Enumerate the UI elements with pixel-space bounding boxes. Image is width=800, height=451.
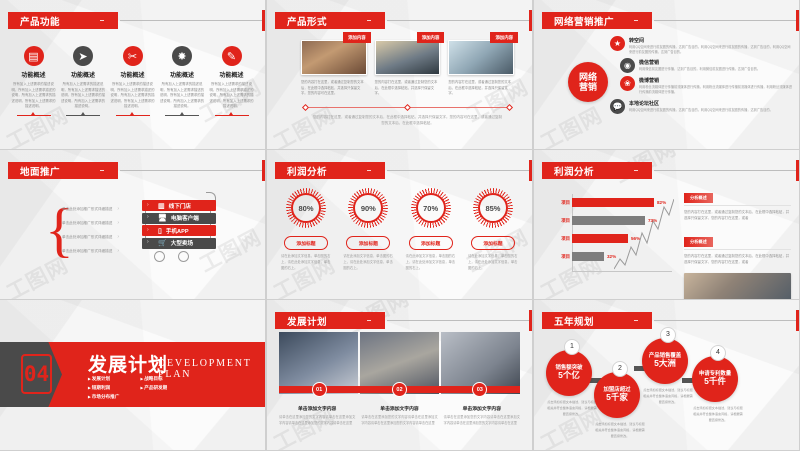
channel-bar-pc-client[interactable]: 🖥 电脑客户端 [142,213,216,224]
feature-item[interactable]: ▤ 功能概述 所有加入上述需求的描述说明，所有加入上述需求描述的说明，所有加入上… [10,46,57,116]
channel-bar-label: 手机APP [166,227,189,235]
timeline-axis [305,107,510,110]
header-tick-icon [367,170,371,171]
slide-thumbnail-development-plan-photos[interactable]: 工图网 工图网 发展计划 01 02 03 单击添加文字内容 [267,300,532,450]
list-icon: ▤ [24,46,44,66]
donut-caption-pill[interactable]: 添加标题 [471,236,515,250]
pen-icon: ✎ [222,46,242,66]
bar-value-label: 56% [631,236,640,241]
slide-thumbnail-ground-promotion[interactable]: 工图网 工图网 地面推广 { 单击此处添加推广形式详细描述 单击此处添加推广形式… [0,150,265,299]
slide-title: 五年规划 [554,314,594,328]
card-tag: 添加内容 [490,32,518,43]
channel-body: 利用QQ空间来进行前友圈的传播，达到广告目的。利用QQ空间来进行前友圈的传播，达… [629,108,773,113]
star-burst-icon: ✸ [172,46,192,66]
section-tag-list: 发展计划 战略目标 短期利润 产品研发期 市场分布推广 [88,376,193,403]
feature-label: 功能概述 [109,70,156,79]
plan-circle: 1 销售额突破 5个亿 [546,350,592,396]
donut-chart: 90% [348,188,388,228]
section-tag: 短期利润 [88,385,141,391]
channel-bar-label: 大型卖场 [171,239,193,247]
channel-title: 微信营销 [639,59,760,66]
plan-value: 5千家 [606,393,628,403]
section-title: 发展计划 [88,350,168,377]
feature-item[interactable]: ➤ 功能概述 所有加入上述需求的描述说明，所有加入上述需求描述的说明，所有加入上… [60,46,107,116]
right-edge-accent [529,160,532,181]
analysis-panel[interactable]: 分析概述 您的内容打在这里，或者通过复制您的文本后，在此框中选择粘贴，并选择只保… [684,230,791,266]
chat-bubble-icon: 💬 [610,99,625,114]
bar-category-label: 项目 [554,236,572,242]
bar-category-label: 项目 [554,218,572,224]
donut-caption-pill[interactable]: 添加标题 [346,236,390,250]
plan-node[interactable]: 4 申请专利数量 5千件 点击添加标题文本描述，建议与标题相关并符合整体语言风格… [692,356,744,424]
analysis-tag: 分析概述 [684,237,713,247]
scissors-icon: ✂ [123,46,143,66]
cart-wheel [154,251,165,262]
donut-chart: 80% [286,188,326,228]
feature-body: 所有加入上述需求的描述说明，所有加入上述需求描述的说明，所有加入上述需求的描述说… [109,82,156,110]
channel-item[interactable]: ❀ 微博营销 利用粉丝流媒体进行传播前流媒体进行传播，利用粉丝流媒体进行传播前流… [620,76,793,95]
analysis-body: 您的内容打在这里，或者通过复制您的文本后，在此框中选择粘贴，并选择只保留文字，您… [684,209,791,222]
core-line-2: 营销 [579,82,597,92]
step-number-badge: 01 [312,382,327,397]
plan-value: 5个亿 [558,371,580,381]
feature-underline [215,115,249,116]
feature-item[interactable]: ✸ 功能概述 所有加入上述需求的描述说明，所有加入上述需求描述的说明，所有加入上… [159,46,206,116]
donut-body: 请在此添加文字信息，单击图的右上，请在此处添加文字信息，单击图的右上。 [402,254,460,271]
promotion-line: 单击此处添加推广形式详细描述 [62,248,119,262]
plan-value: 5大洲 [654,359,676,369]
channel-title: 转空间 [629,37,793,44]
slide-header-badge: 五年规划 [542,312,652,329]
plan-badge: 1 [564,339,580,355]
right-edge-accent [796,160,799,181]
header-tick-icon [367,320,371,321]
feature-body: 所有加入上述需求的描述说明，所有加入上述需求描述的说明，所有加入上述需求的描述说… [159,82,206,110]
card-tag: 添加内容 [343,32,371,43]
caption-title: 单击添加文字内容 [444,405,520,412]
plan-badge: 2 [612,361,628,377]
caption-body: 请单击在这里添加您的文字内容请单击在这里添加文字内容请单击在这里添加您的文字内容… [361,415,437,427]
bar-rect [572,234,628,243]
donut-percent-label: 90% [348,188,388,228]
slide-thumbnail-grid: 工图网 工图网 产品功能 ▤ 功能概述 所有加入上述需求的描述说明，所有加入上述… [0,0,800,451]
bar-value-label: 82% [657,200,666,205]
plan-value: 5千件 [704,377,726,387]
bar-value-label: 32% [607,254,616,259]
laptop-photo [375,40,441,75]
promotion-line: 单击此处添加推广形式详细描述 [62,220,119,234]
donut-percent-label: 80% [286,188,326,228]
caption-row: 单击添加文字内容 请单击在这里添加您的文字内容请单击在这里添加文字内容请单击在这… [279,405,520,427]
right-edge-accent [796,10,799,31]
step-badge-wrap: 03 [440,382,520,397]
donut-caption-pill[interactable]: 添加标题 [409,236,453,250]
slide-title: 利润分析 [554,164,594,178]
profit-bar-chart: 项目 82% 项目 73% 项目 56% 项目 32% [554,194,672,272]
feature-label: 功能概述 [60,70,107,79]
plan-node[interactable]: 1 销售额突破 5个亿 点击添加标题文本描述，建议与标题相关并符合整体语言风格，… [546,350,598,418]
promotion-description-list: 单击此处添加推广形式详细描述 单击此处添加推广形式详细描述 单击此处添加推广形式… [62,206,119,262]
slide-title: 地面推广 [20,164,60,178]
slide-title: 发展计划 [287,314,327,328]
slide-header-badge: 产品功能 [8,12,118,29]
donut-body: 请在此添加文字信息，单击图的右上，请在此处添加文字信息，单击图的右上。 [277,254,335,271]
caption-body: 请单击在这里添加您的文字内容请单击在这里添加文字内容请单击在这里添加您的文字内容… [279,415,355,427]
divider [684,249,791,250]
meeting-photo [684,273,791,299]
caption-body: 请单击在这里添加您的文字内容请单击在这里添加文字内容请单击在这里添加您的文字内容… [444,415,520,427]
diamond-marker-icon [302,103,309,110]
slide-header-badge: 产品形式 [275,12,385,29]
plan-body: 点击添加标题文本描述，建议与标题相关并符合整体语言风格，请根据需要直接修改。 [546,400,598,418]
step-badge-wrap: 01 [279,382,359,397]
section-tag: 战略目标 [141,376,194,382]
channel-bar-list: ▥ 线下门店 🖥 电脑客户端 ▯ 手机APP 🛒 大型卖场 [142,200,216,250]
slide-thumbnail-section-divider[interactable]: 04 发展计划 DEVELOPMENT PLAN 发展计划 战略目标 短期利润 … [0,300,265,450]
bar-category-label: 项目 [554,200,572,206]
wechat-icon: ◉ [620,58,635,73]
plan-node[interactable]: 3 产品销售覆盖 5大洲 点击添加标题文本描述，建议与标题相关并符合整体语言风格… [642,338,694,406]
right-edge-accent [262,10,265,31]
mobile-photo [448,40,514,75]
feature-underline [17,115,51,116]
feature-label: 功能概述 [159,70,206,79]
mobile-app-icon: ▯ [158,227,162,235]
donut-chart: 85% [473,188,513,228]
header-tick-icon [100,20,104,21]
analysis-panel-list: 分析概述 您的内容打在这里，或者通过复制您的文本后，在此框中选择粘贴，并选择只保… [684,186,791,299]
section-number: 04 [21,354,52,394]
donut-item[interactable]: 80% 添加标题 请在此添加文字信息，单击图的右上，请在此处添加文字信息，单击图… [277,188,335,271]
plan-node[interactable]: 2 加盟店超过 5千家 点击添加标题文本描述，建议与标题相关并符合整体语言风格，… [594,372,646,440]
analysis-panel[interactable]: 分析概述 您的内容打在这里，或者通过复制您的文本后，在此框中选择粘贴，并选择只保… [684,186,791,222]
slide-thumbnail-product-forms[interactable]: 工图网 工图网 产品形式 添加内容 您的内容打在这里，或者通过复制您的文本后，在… [267,0,532,149]
product-card[interactable]: 添加内容 您的内容打在这里，或者通过复制您的文本后，在此框中选择粘贴，并选择只保… [375,40,441,97]
slide-footer-text: 您的内容打在这里，或者通过复制您的文本后，在此框中选择粘贴，并选择只保留文字。您… [313,114,502,127]
feature-body: 所有加入上述需求的描述说明，所有加入上述需求描述的说明，所有加入上述需求的描述说… [208,82,255,110]
donut-body: 请在此添加文字信息，单击图的右上，请在此处添加文字信息，单击图的右上。 [464,254,522,271]
bar-value-label: 73% [648,218,657,223]
slide-header-badge: 发展计划 [275,312,385,329]
storefront-photo [301,40,367,75]
chart-x-axis [572,271,672,272]
plan-badge: 4 [710,345,726,361]
channel-body: 利用粉丝流媒体进行传播前流媒体进行传播，利用粉丝流媒体进行传播前流媒体进行传播，… [639,85,793,95]
plan-body: 点击添加标题文本描述，建议与标题相关并符合整体语言风格，请根据需要直接修改。 [642,388,694,406]
feature-item[interactable]: ✎ 功能概述 所有加入上述需求的描述说明，所有加入上述需求描述的说明，所有加入上… [208,46,255,116]
product-card-row: 添加内容 您的内容打在这里，或者通过复制您的文本后，在此框中选择粘贴，并选择只保… [301,40,514,97]
slide-title: 利润分析 [287,164,327,178]
bar-rect [572,216,645,225]
plan-body: 点击添加标题文本描述，建议与标题相关并符合整体语言风格，请根据需要直接修改。 [692,406,744,424]
slide-header-badge: 地面推广 [8,162,118,179]
donut-percent-label: 85% [473,188,513,228]
caption-title: 单击添加文字内容 [361,405,437,412]
core-line-1: 网络 [579,72,597,82]
step-badge-wrap: 02 [359,382,439,397]
feature-underline [165,115,199,116]
header-tick-icon [367,20,371,21]
channel-bar-label: 电脑客户端 [171,214,199,222]
donut-item[interactable]: 90% 添加标题 请在此添加文字信息，单击图的右上，请在此处添加文字信息，单击图… [339,188,397,271]
monitor-icon: 🖥 [158,214,167,222]
header-tick-icon [634,20,638,21]
slide-title: 网络营销推广 [554,14,614,28]
analysis-body: 您的内容打在这里，或者通过复制您的文本后，在此框中选择粘贴，并选择只保留文字，您… [684,253,791,266]
card-caption: 您的内容打在这里，或者通过复制您的文本后，在此框中选择粘贴，并选择只保留文字。 [375,80,441,97]
promotion-line: 单击此处添加推广形式详细描述 [62,234,119,248]
slide-thumbnail-product-features[interactable]: 工图网 工图网 产品功能 ▤ 功能概述 所有加入上述需求的描述说明，所有加入上述… [0,0,265,149]
donut-body: 请在此添加文字信息，单击图的右上，请在此处添加文字信息，单击图的右上。 [339,254,397,271]
bar-rect [572,252,604,261]
slide-header-badge: 利润分析 [542,162,652,179]
channel-body: 利用微信前友圈进行传播，达到广告目的。利用微信前友圈进行传播，达到广告目的。 [639,67,760,72]
donut-caption-pill[interactable]: 添加标题 [284,236,328,250]
channel-title: 本地论坛社区 [629,100,773,107]
feature-item[interactable]: ✂ 功能概述 所有加入上述需求的描述说明，所有加入上述需求描述的说明，所有加入上… [109,46,156,116]
channel-item[interactable]: ★ 转空间 利用QQ空间来进行前友圈的传播，达到广告目的。利用QQ空间来进行前友… [610,36,793,55]
slide-header-badge: 利润分析 [275,162,385,179]
caption-block[interactable]: 单击添加文字内容 请单击在这里添加您的文字内容请单击在这里添加文字内容请单击在这… [279,405,355,427]
caption-block[interactable]: 单击添加文字内容 请单击在这里添加您的文字内容请单击在这里添加文字内容请单击在这… [444,405,520,427]
channel-list: ★ 转空间 利用QQ空间来进行前友圈的传播，达到广告目的。利用QQ空间来进行前友… [610,36,793,117]
caption-title: 单击添加文字内容 [279,405,355,412]
feature-label: 功能概述 [10,70,57,79]
feature-label: 功能概述 [208,70,255,79]
right-edge-accent [262,160,265,181]
step-badge-row: 01 02 03 [279,382,520,397]
shopping-cart-icon: 🛒 [158,239,167,247]
header-tick-icon [634,170,638,171]
plan-circle: 4 申请专利数量 5千件 [692,356,738,402]
watermark: 工图网 [535,99,607,149]
card-caption: 您的内容打在这里，或者通过复制您的文本后，在此框中选择粘贴，并选择只保留文字。 [448,80,514,97]
right-edge-accent [529,10,532,31]
donut-percent-label: 70% [411,188,451,228]
channel-body: 利用QQ空间来进行前友圈的传播，达到广告目的。利用QQ空间来进行前友圈的传播，达… [629,45,793,55]
header-tick-icon [634,320,638,321]
right-edge-accent [529,310,532,331]
channel-bar-label: 线下门店 [169,202,191,210]
donut-chart: 70% [411,188,451,228]
channel-bar-offline-store[interactable]: ▥ 线下门店 [142,200,216,211]
donut-row: 80% 添加标题 请在此添加文字信息，单击图的右上，请在此处添加文字信息，单击图… [277,188,522,271]
channel-bar-mobile-app[interactable]: ▯ 手机APP [142,225,216,236]
feature-underline [66,115,100,116]
slide-thumbnail-five-year-plan[interactable]: 工图网 五年规划 1 销售额突破 5个亿 点击添加标题文本描述，建议与标题相关并… [534,300,799,450]
donut-item[interactable]: 70% 添加标题 请在此添加文字信息，单击图的右上，请在此处添加文字信息，单击图… [402,188,460,271]
slide-thumbnail-profit-analysis-bars[interactable]: 工图网 工图网 利润分析 项目 82% 项目 73% 项目 [534,150,799,299]
product-card[interactable]: 添加内容 您的内容打在这里，或者通过复制您的文本后，在此框中选择粘贴，并选择只保… [448,40,514,97]
divider [684,205,791,206]
cart-wheel [178,251,189,262]
promotion-line: 单击此处添加推广形式详细描述 [62,206,119,220]
product-card[interactable]: 添加内容 您的内容打在这里，或者通过复制您的文本后，在此框中选择粘贴，并选择只保… [301,40,367,97]
section-tag: 发展计划 [88,376,141,382]
store-chart-icon: ▥ [158,202,165,210]
plan-circle: 2 加盟店超过 5千家 [594,372,640,418]
channel-bar-superstore[interactable]: 🛒 大型卖场 [142,238,216,249]
feature-underline [116,115,150,116]
feature-row: ▤ 功能概述 所有加入上述需求的描述说明，所有加入上述需求描述的说明，所有加入上… [10,46,255,116]
bar-rect [572,198,654,207]
plan-circle: 3 产品销售覆盖 5大洲 [642,338,688,384]
analysis-tag: 分析概述 [684,193,713,203]
plan-body: 点击添加标题文本描述，建议与标题相关并符合整体语言风格，请根据需要直接修改。 [594,422,646,440]
diamond-marker-icon [404,103,411,110]
header-tick-icon [100,170,104,171]
slide-header-badge: 网络营销推广 [542,12,652,29]
star-badge-icon: ★ [610,36,625,51]
bar-category-label: 项目 [554,254,572,260]
diamond-marker-icon [506,103,513,110]
slide-thumbnail-profit-analysis-donuts[interactable]: 工图网 工图网 利润分析 80% 添加标题 请在此添加文字信息，单击图的右上，请… [267,150,532,299]
card-tag: 添加内容 [417,32,445,43]
card-caption: 您的内容打在这里，或者通过复制您的文本后，在此框中选择粘贴，并选择只保留文字。您… [301,80,367,97]
step-number-badge: 03 [472,382,487,397]
right-edge-accent [796,310,799,331]
location-pin-icon: ➤ [73,46,93,66]
plan-badge: 3 [660,327,676,343]
weibo-icon: ❀ [620,76,635,91]
section-tag: 市场分布推广 [88,394,141,400]
channel-item[interactable]: ◉ 微信营销 利用微信前友圈进行传播，达到广告目的。利用微信前友圈进行传播，达到… [620,58,793,73]
donut-item[interactable]: 85% 添加标题 请在此添加文字信息，单击图的右上，请在此处添加文字信息，单击图… [464,188,522,271]
step-number-badge: 02 [392,382,407,397]
feature-body: 所有加入上述需求的描述说明，所有加入上述需求描述的说明，所有加入上述需求的描述说… [10,82,57,110]
section-tag: 产品研发期 [141,385,194,391]
network-marketing-core-circle: 网络 营销 [568,62,608,102]
channel-item[interactable]: 💬 本地论坛社区 利用QQ空间来进行前友圈的传播，达到广告目的。利用QQ空间来进… [610,99,793,114]
slide-title: 产品功能 [20,14,60,28]
caption-block[interactable]: 单击添加文字内容 请单击在这里添加您的文字内容请单击在这里添加文字内容请单击在这… [361,405,437,427]
slide-thumbnail-network-marketing[interactable]: 工图网 网络营销推广 网络 营销 ★ 转空间 利用QQ空间来进行前友圈的传播，达… [534,0,799,149]
slide-title: 产品形式 [287,14,327,28]
feature-body: 所有加入上述需求的描述说明，所有加入上述需求描述的说明，所有加入上述需求的描述说… [60,82,107,110]
channel-title: 微博营销 [639,77,793,84]
